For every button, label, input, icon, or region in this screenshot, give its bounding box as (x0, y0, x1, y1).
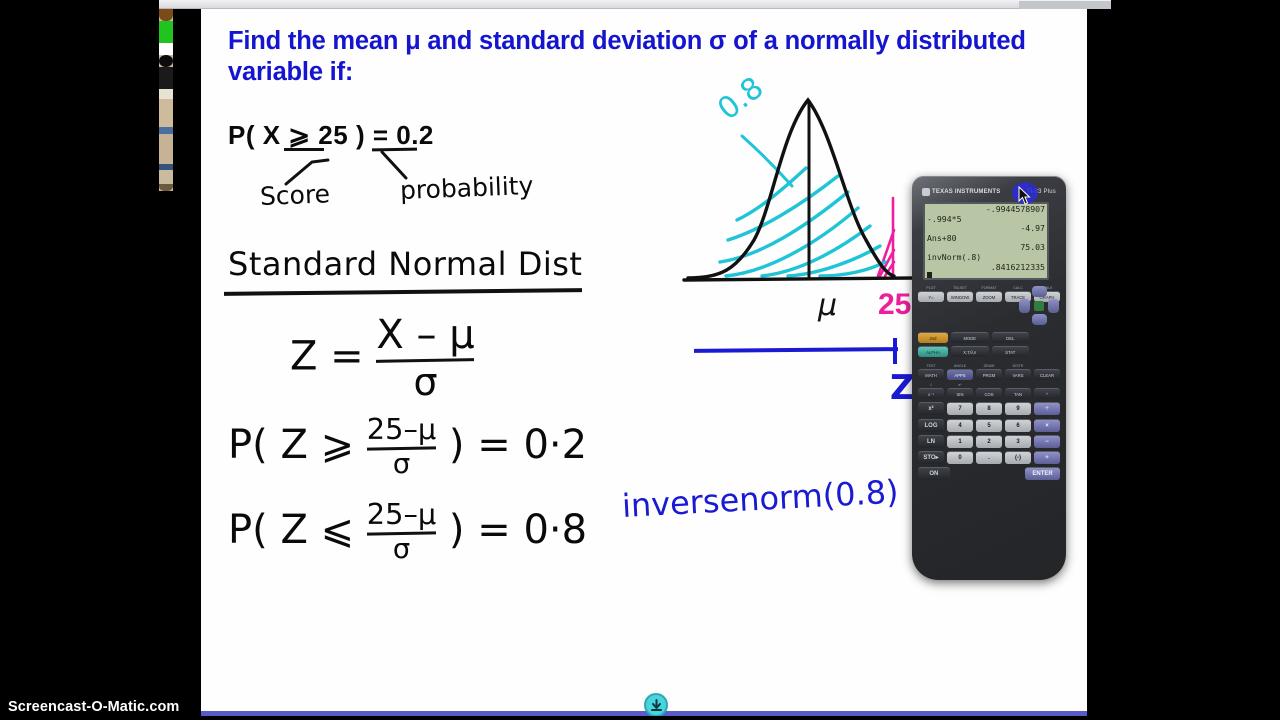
thumbnail-segment (159, 43, 173, 55)
key-math[interactable]: MATH (918, 369, 944, 380)
mouse-cursor-icon (1018, 186, 1032, 206)
key-clear[interactable]: CLEAR (1034, 369, 1060, 380)
thumbnail-segment (159, 9, 173, 21)
thumbnail-segment (159, 170, 173, 184)
key-plus[interactable]: + (1034, 451, 1060, 464)
key-divide[interactable]: ÷ (1034, 402, 1060, 415)
page-title-line2: variable if: (228, 57, 1068, 88)
thumbnail-segment (159, 67, 173, 89)
calculator-screen-line: .8416212335 (927, 263, 1045, 273)
step-2-denominator: σ (367, 536, 436, 564)
calculator-screen-cursor (927, 272, 1045, 280)
key-x-squared[interactable]: x² (918, 402, 944, 415)
key-7[interactable]: 7 (947, 402, 973, 415)
thumbnail-segment (159, 134, 173, 164)
key-store[interactable]: STO▸ (918, 451, 944, 464)
step-2-rhs: ) = 0·8 (449, 507, 587, 553)
formula-z-lhs: Z = (290, 333, 364, 379)
key-2nd[interactable]: 2nd (918, 332, 948, 343)
key-row-bottom: ON ENTER (918, 467, 1060, 480)
key-minus[interactable]: − (1034, 435, 1060, 448)
thumbnail-segment (159, 127, 173, 134)
download-button[interactable] (644, 693, 668, 717)
key-apps[interactable]: APPS (947, 369, 973, 380)
calculator-brand-label: TEXAS INSTRUMENTS (932, 189, 1000, 195)
arrow-left-icon[interactable] (1019, 299, 1030, 313)
screencast-watermark: Screencast-O-Matic.com (8, 699, 179, 715)
key-4[interactable]: 4 (947, 419, 973, 432)
key-row-456: LOG 4 5 6 × (918, 419, 1060, 432)
section-heading: Standard Normal Dist (228, 245, 582, 283)
bottom-black-bar (0, 716, 1280, 720)
key-prgm[interactable]: PRGM (976, 369, 1002, 380)
key-sin[interactable]: SIN (947, 388, 973, 399)
key-stat[interactable]: STAT (992, 346, 1030, 357)
z-axis-label: Z (890, 368, 915, 408)
annotation-probability: probability (399, 171, 533, 205)
key-vars[interactable]: VARS (1005, 369, 1031, 380)
key-grid-main: TEST ANGLE DRAW DISTR MATH APPS PRGM VAR… (918, 364, 1060, 483)
screen-root: Find the mean μ and standard deviation σ… (0, 0, 1280, 720)
step-1-denominator: σ (367, 451, 436, 479)
key-ln[interactable]: LN (918, 435, 944, 448)
formula-z-numerator: X – μ (376, 315, 474, 356)
calculator-dpad[interactable] (1019, 286, 1059, 326)
download-arrow-icon (650, 699, 663, 712)
key-negate[interactable]: (-) (1005, 451, 1031, 464)
key-cos[interactable]: COS (976, 388, 1002, 399)
key-zoom[interactable]: ZOOM (976, 291, 1002, 302)
arrow-up-icon[interactable] (1032, 286, 1047, 297)
page-title-line1: Find the mean μ and standard deviation σ… (228, 26, 1068, 57)
key-0[interactable]: 0 (947, 451, 973, 464)
key-y-equals[interactable]: Y= (918, 291, 944, 302)
calculator-brand: TEXAS INSTRUMENTS (922, 188, 1000, 196)
key-decimal-point[interactable]: . (976, 451, 1002, 464)
given-statement: P( X ⩾ 25 ) = 0.2 (228, 120, 434, 151)
step-2-lhs: P( Z ⩽ (228, 507, 354, 553)
axis-label-mu: μ (818, 288, 837, 323)
z-axis-tick (893, 338, 897, 364)
key-1[interactable]: 1 (947, 435, 973, 448)
formula-z-score: Z = X – μ σ (290, 315, 475, 402)
key-8[interactable]: 8 (976, 402, 1002, 415)
key-mode[interactable]: MODE (951, 332, 989, 343)
key-row-trig: x⁻¹ SIN COS TAN ^ (918, 388, 1060, 399)
calculator-screen[interactable]: -.9944578907 -.994*5 -4.97 Ans+80 75.03 … (923, 202, 1049, 280)
key-2[interactable]: 2 (976, 435, 1002, 448)
key-grid-upper: MODE DEL X,T,θ,n STAT (951, 332, 1029, 360)
step-1-lhs: P( Z ⩾ (228, 422, 354, 468)
slide-thumbnail-sidebar[interactable] (159, 9, 201, 720)
key-3[interactable]: 3 (1005, 435, 1031, 448)
annotation-score: Score (259, 179, 330, 211)
page-title: Find the mean μ and standard deviation σ… (228, 26, 1068, 88)
thumbnail-segment (159, 99, 173, 127)
key-alpha[interactable]: ALPHA (918, 346, 948, 357)
key-9[interactable]: 9 (1005, 402, 1031, 415)
step-1-numerator: 25–μ (367, 415, 436, 444)
thumbnail-segment (159, 21, 173, 43)
key-caret[interactable]: ^ (1034, 388, 1060, 399)
formula-z-denominator: σ (376, 363, 474, 402)
ti83-calculator[interactable]: TEXAS INSTRUMENTS TI-83 Plus -.994457890… (912, 176, 1066, 580)
key-x-inverse[interactable]: x⁻¹ (918, 388, 944, 399)
underline-score (284, 148, 324, 151)
step-2-fraction: 25–μ σ (367, 500, 436, 564)
thumbnail-segment (159, 89, 173, 99)
window-tab[interactable] (1019, 1, 1111, 9)
key-row-789: x² 7 8 9 ÷ (918, 402, 1060, 415)
calculator-keypad[interactable]: PLOT TBLSET FORMAT CALC TABLE Y= WINDOW … (918, 286, 1060, 574)
key-enter[interactable]: ENTER (1025, 467, 1060, 480)
thumbnail-strip[interactable] (159, 9, 173, 191)
thumbnail-segment (159, 55, 173, 67)
step-1-rhs: ) = 0·2 (449, 422, 587, 468)
key-row-123: LN 1 2 3 − (918, 435, 1060, 448)
axis-label-25: 25 (878, 288, 911, 322)
key-del[interactable]: DEL (992, 332, 1030, 343)
key-log[interactable]: LOG (918, 419, 944, 432)
key-5[interactable]: 5 (976, 419, 1002, 432)
key-column-modifiers: 2nd ALPHA (918, 332, 948, 360)
ti-logo-icon (922, 188, 930, 196)
key-6[interactable]: 6 (1005, 419, 1031, 432)
formula-z-fraction: X – μ σ (376, 315, 474, 402)
step-1-fraction: 25–μ σ (367, 415, 436, 479)
key-row-0: STO▸ 0 . (-) + (918, 451, 1060, 464)
dpad-center (1034, 301, 1044, 311)
key-x-t-theta-n[interactable]: X,T,θ,n (951, 346, 989, 357)
thumbnail-segment (159, 184, 173, 191)
key-multiply[interactable]: × (1034, 419, 1060, 432)
key-tan[interactable]: TAN (1005, 388, 1031, 399)
key-row-menus: MATH APPS PRGM VARS CLEAR (918, 369, 1060, 380)
arrow-down-icon[interactable] (1032, 314, 1047, 325)
step-2-numerator: 25–μ (367, 500, 436, 529)
step-2-equation: P( Z ⩽ 25–μ σ ) = 0·8 (228, 500, 587, 564)
calculator-brandbar: TEXAS INSTRUMENTS TI-83 Plus (919, 185, 1059, 198)
step-1-equation: P( Z ⩾ 25–μ σ ) = 0·2 (228, 415, 587, 479)
key-window[interactable]: WINDOW (947, 291, 973, 302)
window-titlebar-strip (159, 0, 1111, 9)
arrow-right-icon[interactable] (1048, 299, 1059, 313)
key-on[interactable]: ON (918, 467, 950, 480)
